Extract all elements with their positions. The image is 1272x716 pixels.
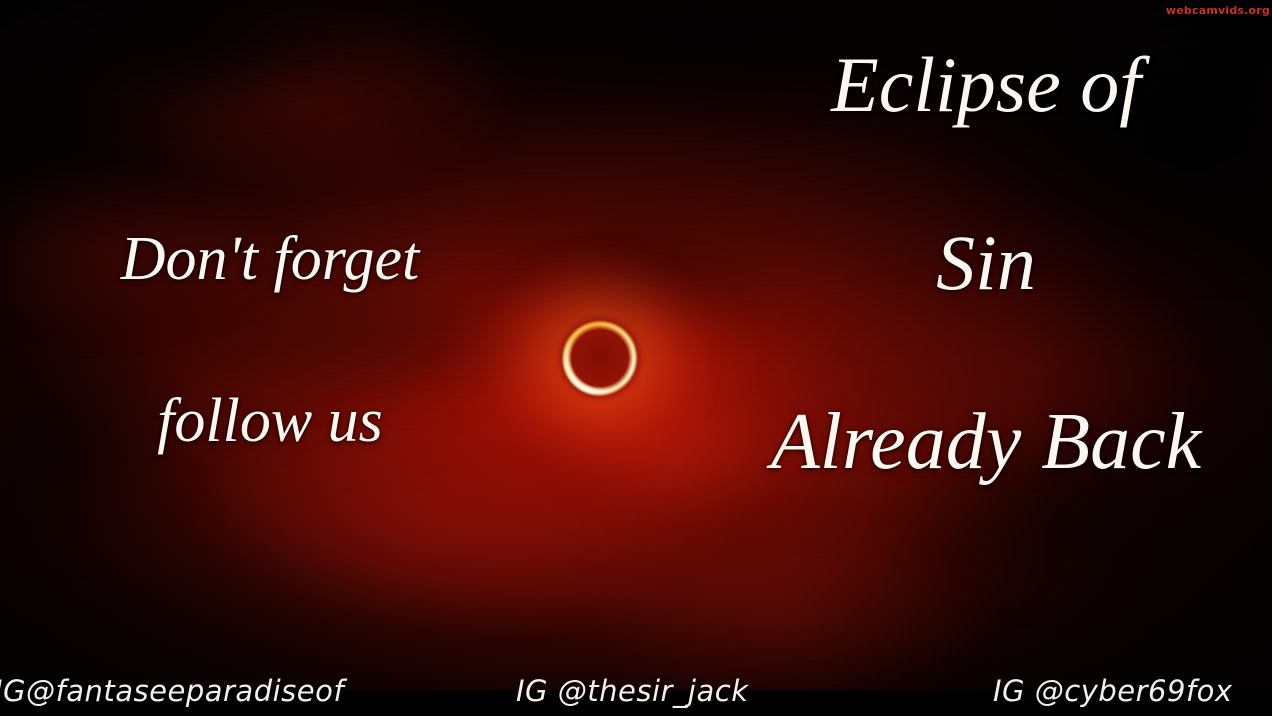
instagram-handle-left: IG@fantaseeparadiseof: [0, 674, 344, 708]
headline-line-1: Eclipse of: [700, 46, 1272, 124]
eclipse-ring-highlight: [550, 308, 650, 408]
follow-cta-block: Don't forget follow us: [60, 228, 480, 452]
video-frame: Eclipse of Sin Already Back Don't forget…: [0, 0, 1272, 716]
site-watermark: webcamvids.org: [1166, 4, 1270, 17]
cta-line-1: Don't forget: [60, 228, 480, 290]
headline-line-2: Sin: [700, 224, 1272, 302]
eclipse-moon-disc: [559, 317, 641, 399]
headline-block: Eclipse of Sin Already Back: [700, 40, 1272, 482]
eclipse-halo-glow: [489, 247, 711, 469]
cta-line-2: follow us: [60, 390, 480, 452]
headline-line-3: Already Back: [700, 402, 1272, 482]
instagram-handle-right: IG @cyber69fox: [993, 674, 1233, 708]
eclipse-corona-ring: [550, 308, 650, 408]
eclipse-ring-graphic: [535, 293, 665, 423]
instagram-handle-center: IG @thesir_jack: [516, 674, 749, 708]
